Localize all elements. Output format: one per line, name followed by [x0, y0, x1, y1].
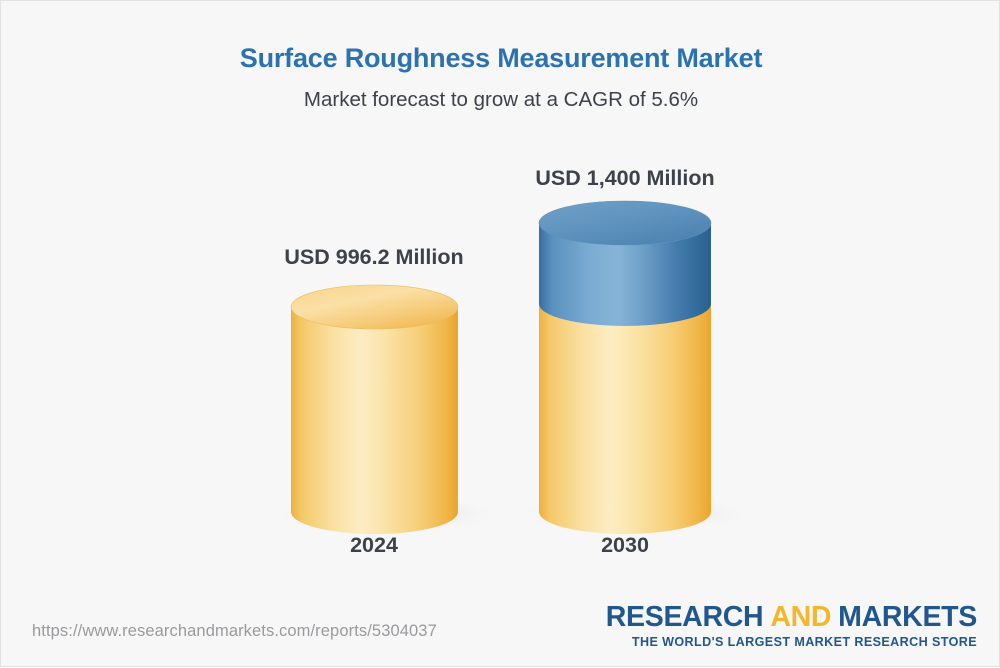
bar-2024[interactable]	[291, 285, 458, 534]
bar-2030-base-segment	[539, 304, 711, 534]
research-and-markets-logo[interactable]: RESEARCHANDMARKETS THE WORLD'S LARGEST M…	[597, 601, 977, 650]
source-url[interactable]: https://www.researchandmarkets.com/repor…	[32, 622, 437, 641]
bar-value-label-2024: USD 996.2 Million	[224, 244, 524, 270]
logo-word-and: AND	[763, 601, 838, 633]
category-label-2030: 2030	[475, 532, 775, 558]
bar-value-label-2030: USD 1,400 Million	[475, 165, 775, 191]
logo-word-markets: MARKETS	[838, 601, 977, 633]
bar-2030[interactable]	[539, 201, 711, 534]
bar-2030-top-cap	[539, 201, 711, 245]
chart-plot-area	[1, 1, 1000, 668]
chart-canvas: Surface Roughness Measurement Market Mar…	[0, 0, 1000, 667]
logo-tagline: THE WORLD'S LARGEST MARKET RESEARCH STOR…	[597, 633, 977, 650]
bar-chart-svg	[1, 1, 1000, 668]
logo-wordmark: RESEARCHANDMARKETS	[597, 601, 977, 633]
bar-2024-top-cap	[291, 285, 458, 329]
bar-2024-body	[291, 307, 458, 534]
logo-word-research: RESEARCH	[606, 601, 764, 633]
